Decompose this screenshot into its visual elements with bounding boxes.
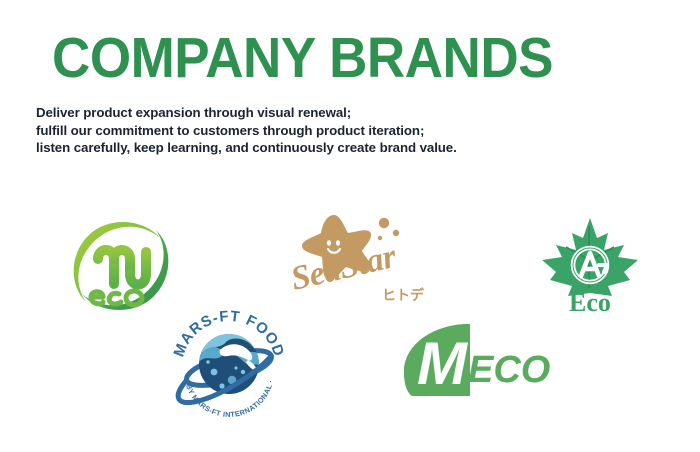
brand-logo-mars-ft-food: MARS-FT FOOD · BY MARS-FT INTERNATIONAL … — [168, 306, 290, 416]
meco-tagline: ECO — [468, 349, 550, 391]
brand-logo-ca-eco: Eco — [538, 216, 642, 320]
meco-wordmark: M — [417, 330, 469, 397]
seastar-tagline: ヒトデ — [382, 287, 425, 304]
brand-logo-mu-eco — [62, 212, 180, 320]
mu-tagline — [91, 291, 142, 305]
ring-swoosh-icon — [74, 222, 169, 310]
brand-logo-seastar: SeaStar ヒトデ — [288, 212, 436, 308]
brand-logo-meco: M ECO — [400, 322, 540, 398]
mu-wordmark — [98, 250, 146, 286]
ca-eco-tagline: Eco — [569, 288, 611, 317]
brand-logo-wall: SeaStar ヒトデ Eco — [0, 0, 700, 452]
